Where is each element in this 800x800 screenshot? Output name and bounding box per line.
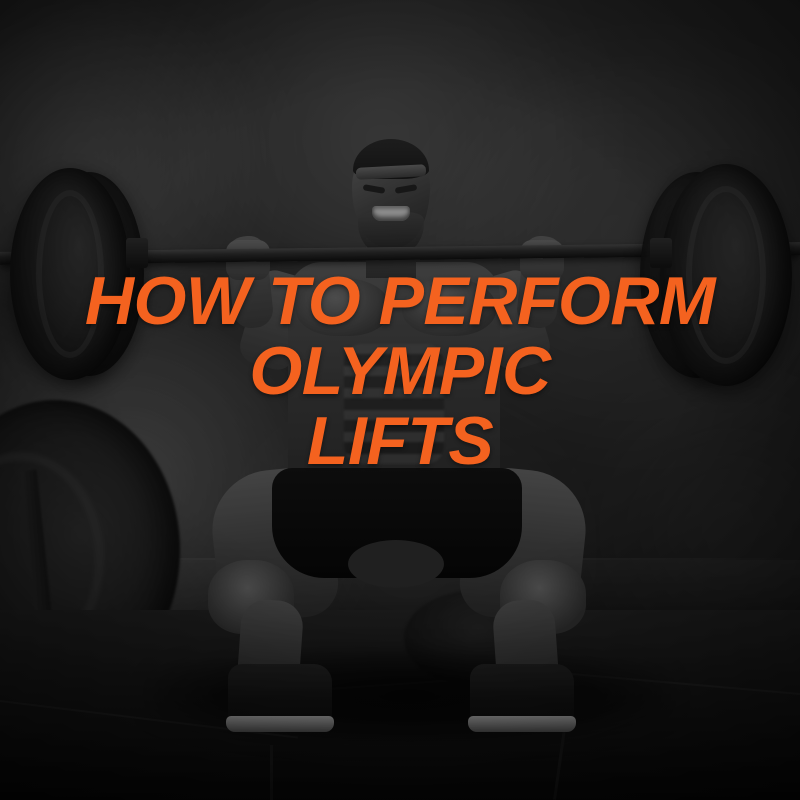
hero-graphic: HOW TO PERFORM OLYMPIC LIFTS (0, 0, 800, 800)
headline: HOW TO PERFORM OLYMPIC LIFTS (0, 266, 800, 476)
headline-line-1: HOW TO PERFORM (0, 266, 800, 336)
headline-line-2: OLYMPIC (0, 336, 800, 406)
headline-line-3: LIFTS (0, 406, 800, 476)
